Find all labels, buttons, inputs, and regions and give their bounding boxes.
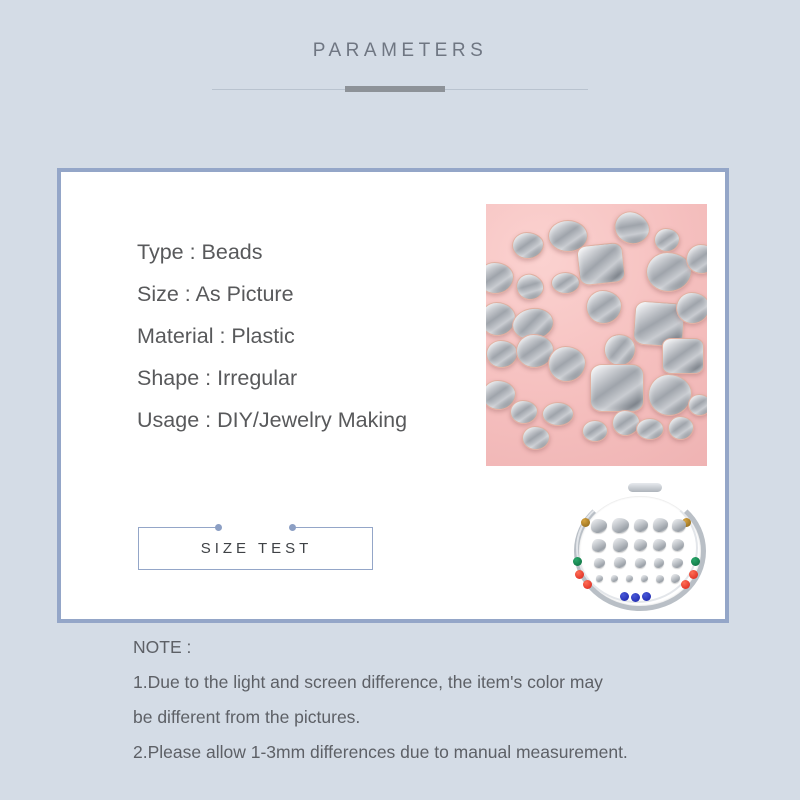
page-header: PARAMETERS bbox=[0, 0, 800, 150]
bead-shape bbox=[662, 338, 704, 374]
title-divider-bar bbox=[345, 86, 445, 92]
bead-shape bbox=[688, 394, 707, 416]
bead-shape bbox=[576, 242, 626, 287]
spec-row-type: Type : Beads bbox=[137, 231, 477, 273]
specification-list: Type : Beads Size : As Picture Material … bbox=[137, 231, 477, 441]
size-test-label: SIZE TEST bbox=[139, 527, 374, 570]
note-line-1-continued: be different from the pictures. bbox=[133, 700, 773, 735]
spec-row-material: Material : Plastic bbox=[137, 315, 477, 357]
spec-row-usage: Usage : DIY/Jewelry Making bbox=[137, 399, 477, 441]
bead-shape bbox=[582, 420, 608, 442]
necklace-accent-bead bbox=[642, 592, 651, 601]
spec-row-size: Size : As Picture bbox=[137, 273, 477, 315]
necklace-size-test-photo bbox=[558, 477, 718, 619]
necklace-accent-bead bbox=[631, 593, 640, 602]
necklace-accent-bead bbox=[575, 570, 584, 579]
note-section: NOTE : 1.Due to the light and screen dif… bbox=[133, 630, 773, 770]
necklace-accent-bead bbox=[581, 518, 590, 527]
note-line-1: 1.Due to the light and screen difference… bbox=[133, 665, 773, 700]
bead-shape bbox=[590, 364, 644, 412]
necklace-accent-bead bbox=[681, 580, 690, 589]
bead-shape bbox=[542, 402, 574, 426]
necklace-accent-bead bbox=[691, 557, 700, 566]
note-heading: NOTE : bbox=[133, 630, 773, 665]
note-line-2: 2.Please allow 1-3mm differences due to … bbox=[133, 735, 773, 770]
size-test-button[interactable]: SIZE TEST bbox=[138, 527, 373, 570]
beads-product-photo bbox=[486, 204, 707, 466]
necklace-accent-bead bbox=[573, 557, 582, 566]
necklace-accent-bead bbox=[583, 580, 592, 589]
spec-row-shape: Shape : Irregular bbox=[137, 357, 477, 399]
bead-shape bbox=[636, 418, 664, 440]
necklace-accent-bead bbox=[689, 570, 698, 579]
page-title: PARAMETERS bbox=[0, 40, 800, 62]
parameters-card: Type : Beads Size : As Picture Material … bbox=[57, 168, 729, 623]
necklace-clasp bbox=[628, 483, 662, 492]
bead-shape bbox=[551, 272, 580, 294]
bead-shape bbox=[676, 292, 707, 324]
necklace-accent-bead bbox=[620, 592, 629, 601]
